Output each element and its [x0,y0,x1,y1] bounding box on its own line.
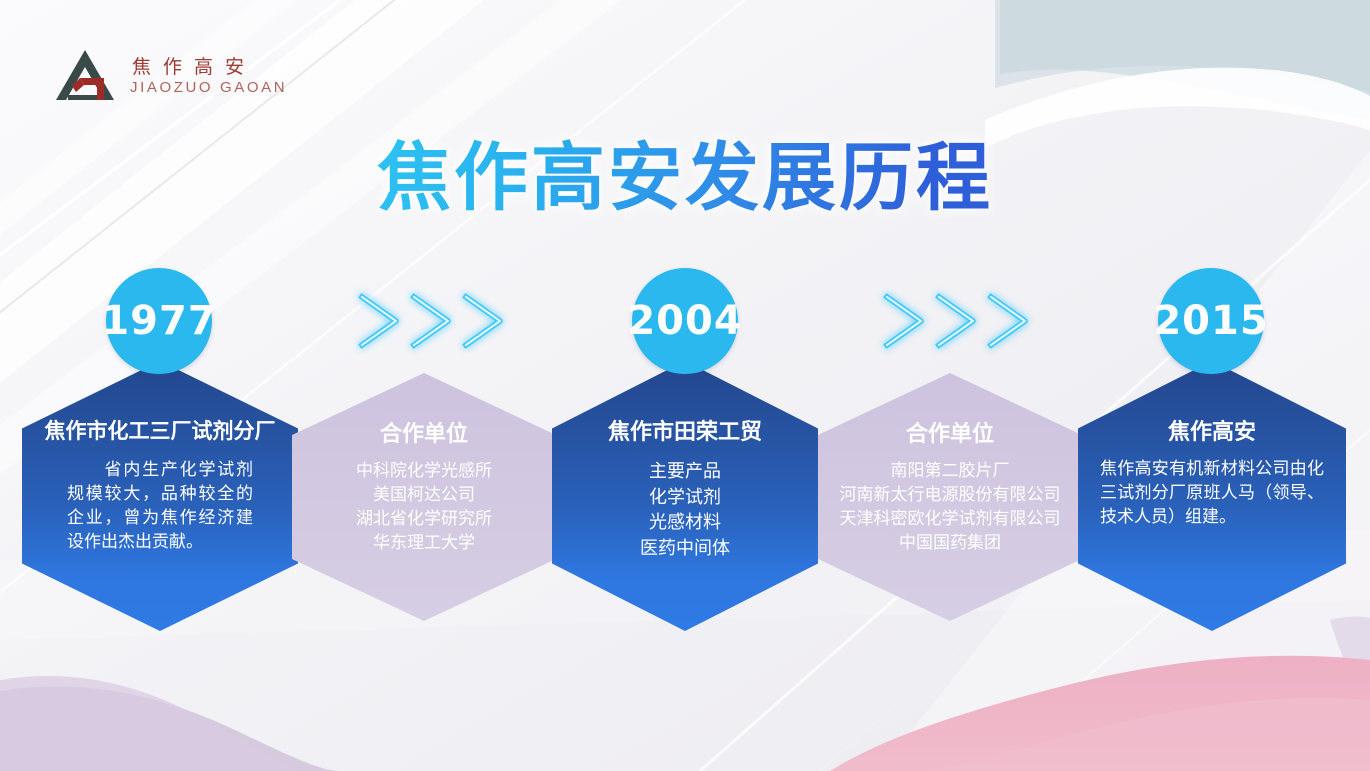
year-badge-2015[interactable]: 2015 [1158,268,1264,374]
hexagon-card-partners-2[interactable]: 合作单位 南阳第二胶片厂 河南新太行电源股份有限公司 天津科密欧化学试剂有限公司… [818,373,1082,621]
logo-svg [54,48,116,104]
brand-name-cn: 焦作高安 [130,56,287,80]
hexagon-body: 焦作高安有机新材料公司由化三试剂分厂原班人马（领导、技术人员）组建。 [1100,457,1324,529]
chevron-right-icon [985,292,1033,350]
hexagon-body: 中科院化学光感所 美国柯达公司 湖北省化学研究所 华东理工大学 [356,459,492,556]
chevron-right-icon [881,292,929,350]
year-label: 2015 [1153,298,1268,344]
year-label: 2004 [627,298,742,344]
hexagon-body: 南阳第二胶片厂 河南新太行电源股份有限公司 天津科密欧化学试剂有限公司 中国国药… [840,459,1061,556]
year-badge-2004[interactable]: 2004 [632,268,738,374]
hexagon-title: 焦作市化工三厂试剂分厂 [45,421,276,442]
chevron-arrows-1 [356,292,508,350]
chevron-right-icon [408,292,456,350]
hexagon-title: 焦作高安 [1168,421,1256,443]
brand-name-en: JIAOZUO GAOAN [130,79,287,96]
brand-logo-text: 焦作高安 JIAOZUO GAOAN [130,56,287,97]
year-label: 1977 [101,298,216,344]
hexagon-title: 合作单位 [906,423,994,445]
brand-logo: 焦作高安 JIAOZUO GAOAN [54,48,287,104]
hexagon-card-1977[interactable]: 焦作市化工三厂试剂分厂 省内生产化学试剂规模较大，品种较全的企业，曾为焦作经济建… [22,361,298,631]
chevron-right-icon [356,292,404,350]
hexagon-card-partners-1[interactable]: 合作单位 中科院化学光感所 美国柯达公司 湖北省化学研究所 华东理工大学 [292,373,556,621]
year-badge-1977[interactable]: 1977 [106,268,212,374]
timeline: 1977 焦作市化工三厂试剂分厂 省内生产化学试剂规模较大，品种较全的企业，曾为… [0,0,1370,771]
chevron-right-icon [460,292,508,350]
chevron-right-icon [933,292,981,350]
hexagon-card-2004[interactable]: 焦作市田荣工贸 主要产品 化学试剂 光感材料 医药中间体 [552,361,818,631]
hexagon-title: 合作单位 [380,423,468,445]
jiaozuo-gaoan-triangle-logo-icon [54,48,116,104]
hexagon-card-2015[interactable]: 焦作高安 焦作高安有机新材料公司由化三试剂分厂原班人马（领导、技术人员）组建。 [1078,361,1346,631]
chevron-arrows-2 [881,292,1033,350]
hexagon-body: 省内生产化学试剂规模较大，品种较全的企业，曾为焦作经济建设作出杰出贡献。 [67,458,253,555]
hexagon-title: 焦作市田荣工贸 [608,421,762,443]
hexagon-body: 主要产品 化学试剂 光感材料 医药中间体 [640,459,730,561]
